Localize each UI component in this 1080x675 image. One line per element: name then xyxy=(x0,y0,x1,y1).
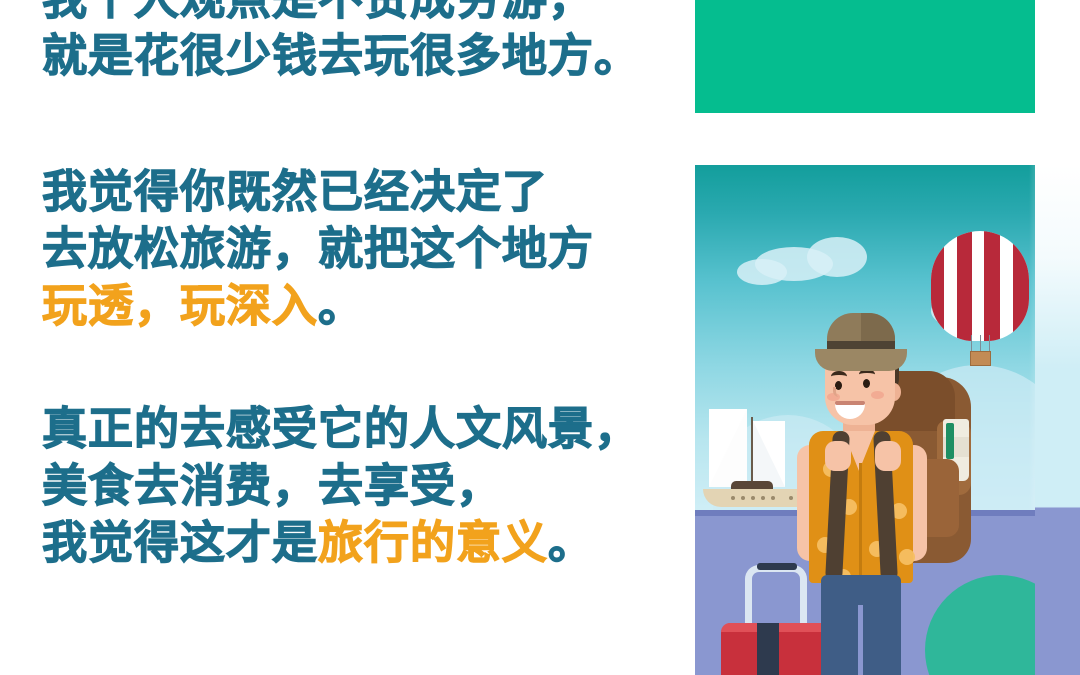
paragraph-1: 我个人观点是不赞成穷游， 就是花很少钱去玩很多地方。 xyxy=(42,0,640,84)
paragraph-2: 我觉得你既然已经决定了 去放松旅游，就把这个地方 玩透，玩深入。 xyxy=(42,163,594,334)
illustration-frame xyxy=(695,165,1035,675)
text-segment: 我个人观点是不赞成穷游， xyxy=(42,0,594,25)
text-segment: 去放松旅游，就把这个地方 xyxy=(42,222,594,275)
suitcase-strap xyxy=(757,623,779,675)
paragraph-2-line-2: 去放松旅游，就把这个地方 xyxy=(42,220,594,277)
porthole xyxy=(741,496,745,500)
paragraph-3-line-2: 美食去消费，去享受， xyxy=(42,457,640,514)
text-segment: 美食去消费，去享受， xyxy=(42,459,502,512)
porthole xyxy=(761,496,765,500)
text-column: 我个人观点是不赞成穷游， 就是花很少钱去玩很多地方。 我觉得你既然已经决定了 去… xyxy=(0,0,700,675)
porthole xyxy=(751,496,755,500)
sail-fore xyxy=(753,421,785,487)
illustration-edge-gradient xyxy=(1035,165,1080,675)
text-segment: 。 xyxy=(318,279,364,332)
paragraph-3: 真正的去感受它的人文风景， 美食去消费，去享受， 我觉得这才是旅行的意义。 xyxy=(42,400,640,571)
paragraph-1-line-2: 就是花很少钱去玩很多地方。 xyxy=(42,27,640,84)
bucket-hat-icon xyxy=(815,313,907,369)
paragraph-2-line-1: 我觉得你既然已经决定了 xyxy=(42,163,594,220)
sail-main xyxy=(709,409,747,487)
text-segment: 真正的去感受它的人文风景， xyxy=(42,402,640,455)
text-segment: 就是花很少钱去玩很多地方。 xyxy=(42,29,640,82)
shirt-placket xyxy=(859,463,862,583)
right-hand xyxy=(875,441,901,471)
green-accent-block xyxy=(695,0,1035,113)
pants-leg-gap xyxy=(858,605,863,675)
flower-pattern xyxy=(899,549,915,565)
porthole xyxy=(771,496,775,500)
porthole xyxy=(731,496,735,500)
mast xyxy=(751,417,753,489)
coffee-cup-logo xyxy=(946,423,954,459)
traveler-illustration xyxy=(695,165,1080,675)
paragraph-2-line-3: 玩透，玩深入。 xyxy=(42,277,594,334)
paragraph-3-line-3: 我觉得这才是旅行的意义。 xyxy=(42,514,640,571)
eye-right xyxy=(863,379,870,388)
traveler-figure xyxy=(791,313,991,675)
illustration-right-fade xyxy=(995,165,1035,510)
text-segment: 我觉得这才是 xyxy=(42,516,318,569)
text-segment: 我觉得你既然已经决定了 xyxy=(42,165,548,218)
highlighted-text-segment: 旅行的意义 xyxy=(318,516,548,569)
left-hand xyxy=(825,441,851,471)
text-segment: 。 xyxy=(548,516,594,569)
cheek-right xyxy=(871,391,884,399)
mouth-upper-lip xyxy=(835,401,865,405)
cloud-icon xyxy=(737,259,787,285)
hat-brim xyxy=(815,349,907,371)
nose xyxy=(833,387,844,397)
cloud-icon xyxy=(807,237,867,277)
paragraph-3-line-1: 真正的去感受它的人文风景， xyxy=(42,400,640,457)
highlighted-text-segment: 玩透，玩深入 xyxy=(42,279,318,332)
paragraph-1-line-1: 我个人观点是不赞成穷游， xyxy=(42,0,640,27)
poster-canvas: 我个人观点是不赞成穷游， 就是花很少钱去玩很多地方。 我觉得你既然已经决定了 去… xyxy=(0,0,1080,675)
